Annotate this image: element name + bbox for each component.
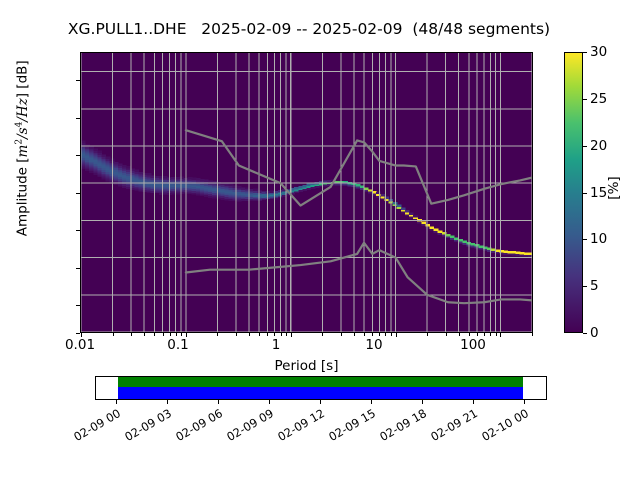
timeline-tick: [524, 400, 525, 404]
colorbar-tick-label: 25: [590, 91, 607, 107]
timeline-tick: [473, 400, 474, 404]
x-tick-minor: [154, 333, 155, 336]
x-tick-minor: [446, 333, 447, 336]
x-tick-minor: [274, 333, 275, 336]
colorbar-label: [%]: [606, 168, 622, 208]
x-tick-minor: [113, 333, 114, 336]
x-tick-minor: [131, 333, 132, 336]
x-tick-minor: [490, 333, 491, 336]
x-tick-minor: [484, 333, 485, 336]
x-tick-minor: [236, 333, 237, 336]
plot-title: XG.PULL1..DHE 2025-02-09 -- 2025-02-09 (…: [0, 20, 618, 38]
x-tick-major: [396, 333, 397, 337]
x-tick-minor: [249, 333, 250, 336]
x-tick-minor: [379, 333, 380, 336]
x-tick-label: 1: [272, 337, 281, 353]
colorbar-tick: [583, 193, 587, 194]
figure-canvas: XG.PULL1..DHE 2025-02-09 -- 2025-02-09 (…: [0, 0, 640, 480]
colorbar-tick-label: 30: [590, 44, 607, 60]
x-tick-minor: [217, 333, 218, 336]
y-axis-label-text: Amplitude [: [14, 157, 30, 236]
x-tick-minor: [267, 333, 268, 336]
x-tick-minor: [459, 333, 460, 336]
x-tick-minor: [322, 333, 323, 336]
data-coverage-bar: [118, 377, 523, 387]
x-tick-label: 0.01: [65, 337, 95, 353]
colorbar-tick-label: 5: [590, 278, 599, 294]
x-tick-label: 100: [460, 337, 486, 353]
x-tick-minor: [181, 333, 182, 336]
x-tick-minor: [259, 333, 260, 336]
data-coverage-timeline[interactable]: [95, 376, 547, 400]
x-tick-minor: [163, 333, 164, 336]
x-tick-minor: [532, 333, 533, 336]
x-tick-minor: [341, 333, 342, 336]
x-tick-minor: [427, 333, 428, 336]
timeline-tick: [167, 400, 168, 404]
histogram-cells: [81, 141, 532, 257]
x-tick-major: [500, 333, 501, 337]
y-axis-label-math: m2/s4/Hz: [14, 98, 30, 157]
x-tick-minor: [469, 333, 470, 336]
colorbar-tick-label: 15: [590, 185, 607, 201]
x-tick-label: 10: [365, 337, 382, 353]
y-tick-mark: [76, 333, 80, 334]
x-tick-minor: [176, 333, 177, 336]
colorbar-tick-label: 20: [590, 138, 607, 154]
ppsd-plot-area[interactable]: [80, 52, 533, 333]
x-tick-minor: [496, 333, 497, 336]
x-tick-minor: [144, 333, 145, 336]
x-tick-minor: [391, 333, 392, 336]
x-tick-major: [291, 333, 292, 337]
colorbar-tick-label: 0: [590, 325, 599, 341]
x-tick-minor: [385, 333, 386, 336]
grid-lines: [81, 53, 532, 332]
timeline-tick: [116, 400, 117, 404]
timeline-tick: [320, 400, 321, 404]
colorbar-tick: [583, 286, 587, 287]
x-tick-minor: [477, 333, 478, 336]
timeline-tick: [269, 400, 270, 404]
y-axis-label: Amplitude [m2/s4/Hz] [dB]: [14, 18, 31, 278]
colorbar-tick: [583, 239, 587, 240]
colorbar-tick: [583, 52, 587, 53]
psd-segments-bar: [118, 387, 523, 399]
colorbar[interactable]: [564, 52, 583, 333]
x-axis-label: Period [s]: [80, 358, 533, 374]
timeline-tick: [218, 400, 219, 404]
timeline-tick: [422, 400, 423, 404]
colorbar-tick: [583, 99, 587, 100]
x-tick-minor: [372, 333, 373, 336]
colorbar-tick-label: 10: [590, 231, 607, 247]
colorbar-tick: [583, 146, 587, 147]
x-tick-minor: [354, 333, 355, 336]
x-tick-minor: [281, 333, 282, 336]
timeline-tick: [371, 400, 372, 404]
ppsd-histogram: [81, 53, 532, 332]
low-noise-model: [186, 243, 532, 303]
x-tick-label: 0.1: [167, 337, 188, 353]
colorbar-tick: [583, 333, 587, 334]
x-tick-minor: [170, 333, 171, 336]
y-axis-label-text-2: ] [dB]: [14, 60, 30, 98]
x-tick-minor: [364, 333, 365, 336]
x-tick-minor: [286, 333, 287, 336]
